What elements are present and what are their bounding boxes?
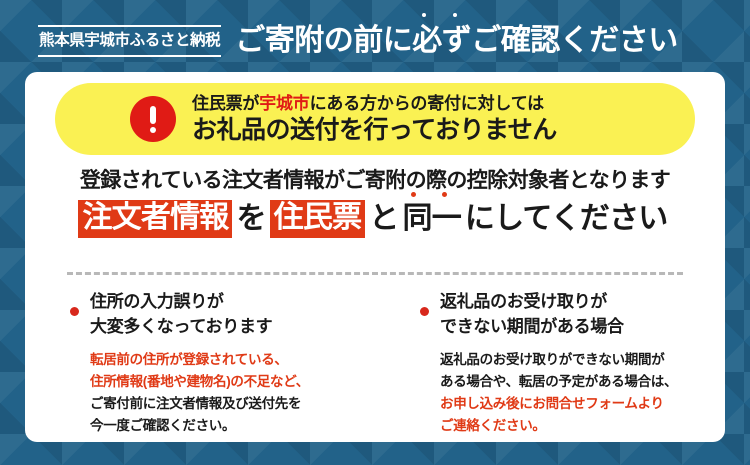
alert-line-2: お礼品の送付を行っておりません: [192, 115, 557, 145]
note-body-line-2: 住所情報(番地や建物名)の不足など、: [90, 371, 363, 393]
note-body-line-4: 今一度ご確認ください。: [90, 415, 363, 437]
content-card: 住民票が宇城市にある方からの寄付に対しては お礼品の送付を行っておりません 登録…: [25, 72, 725, 442]
brand-block: 熊本県宇城市ふるさと納税: [38, 25, 221, 56]
note-heading-text: 住所の入力誤りが 大変多くなっております: [90, 290, 272, 339]
statement-tail: にしてください: [461, 201, 672, 237]
statement-emphasis: 同一: [403, 201, 461, 237]
note-body-line-1: 返礼品のお受け取りができない期間が: [440, 349, 713, 371]
alert-text-block: 住民票が宇城市にある方からの寄付に対しては お礼品の送付を行っておりません: [192, 93, 557, 145]
note-heading-text: 返礼品のお受け取りが できない期間がある場合: [440, 290, 624, 339]
note-heading-line-1: 返礼品のお受け取りが: [440, 290, 624, 315]
note-heading: 返礼品のお受け取りが できない期間がある場合: [420, 290, 713, 339]
exclamation-dot: [150, 127, 156, 133]
red-dot-bullet-icon: [420, 307, 429, 316]
banner-header: 熊本県宇城市ふるさと納税 ご寄附の前に必ずご確認ください: [0, 0, 750, 82]
alert-line1-highlight: 宇城市: [259, 94, 309, 113]
alert-line1-suffix: にある方からの寄付に対しては: [310, 94, 544, 113]
alert-line1-prefix: 住民票が: [192, 94, 259, 113]
header-title-wrap: ご寄附の前に必ずご確認ください: [235, 26, 678, 56]
alert-banner: 住民票が宇城市にある方からの寄付に対しては お礼品の送付を行っておりません: [55, 83, 695, 155]
red-dot-bullet-icon: [70, 307, 79, 316]
note-body: 転居前の住所が登録されている、 住所情報(番地や建物名)の不足など、 ご寄付前に…: [90, 349, 363, 436]
alert-line-1: 住民票が宇城市にある方からの寄付に対しては: [192, 93, 557, 114]
title-emphasis: 必ず: [412, 24, 471, 57]
statement-chip-residence-certificate: 住民票: [270, 200, 366, 238]
notes-columns: 住所の入力誤りが 大変多くなっております 転居前の住所が登録されている、 住所情…: [25, 290, 725, 437]
title-prefix: ご寄附の前に: [235, 24, 412, 57]
note-body-line-4: ご連絡ください。: [440, 415, 713, 437]
statement-chip-orderer-info: 注文者情報: [78, 200, 232, 238]
note-body-line-1: 転居前の住所が登録されている、: [90, 349, 363, 371]
note-heading-line-2: 大変多くなっております: [90, 315, 272, 340]
note-body-line-3: お申し込み後にお問合せフォームより: [440, 393, 713, 415]
statement-block: 登録されている注文者情報がご寄附の際の控除対象者となります 注文者情報を住民票と…: [25, 168, 725, 238]
note-heading-line-1: 住所の入力誤りが: [90, 290, 272, 315]
note-heading-line-2: できない期間がある場合: [440, 315, 624, 340]
note-heading: 住所の入力誤りが 大変多くなっております: [70, 290, 363, 339]
page-title: ご寄附の前に必ずご確認ください: [235, 26, 678, 56]
exclamation-stem: [150, 106, 156, 124]
note-body-line-3: ご寄付前に注文者情報及び送付先を: [90, 393, 363, 415]
brand-name: 熊本県宇城市ふるさと納税: [38, 27, 221, 54]
title-suffix: ご確認ください: [471, 24, 678, 57]
statement-line-1: 登録されている注文者情報がご寄附の際の控除対象者となります: [25, 168, 725, 193]
statement-connector-2: と: [365, 201, 402, 237]
brand-rule-bottom: [38, 55, 221, 57]
note-column-address-errors: 住所の入力誤りが 大変多くなっております 転居前の住所が登録されている、 住所情…: [25, 290, 375, 437]
statement-line-2: 注文者情報を住民票と同一にしてください: [25, 200, 725, 238]
promo-banner: 熊本県宇城市ふるさと納税 ご寄附の前に必ずご確認ください 住民票が宇城市にある方…: [0, 0, 750, 465]
note-body: 返礼品のお受け取りができない期間が ある場合や、転居の予定がある場合は、 お申し…: [440, 349, 713, 436]
dashed-divider: [67, 272, 683, 275]
note-column-delivery-unavailable: 返礼品のお受け取りが できない期間がある場合 返礼品のお受け取りができない期間が…: [375, 290, 725, 437]
statement-connector-1: を: [232, 201, 269, 237]
note-body-line-2: ある場合や、転居の予定がある場合は、: [440, 371, 713, 393]
exclamation-circle-icon: [130, 96, 176, 142]
